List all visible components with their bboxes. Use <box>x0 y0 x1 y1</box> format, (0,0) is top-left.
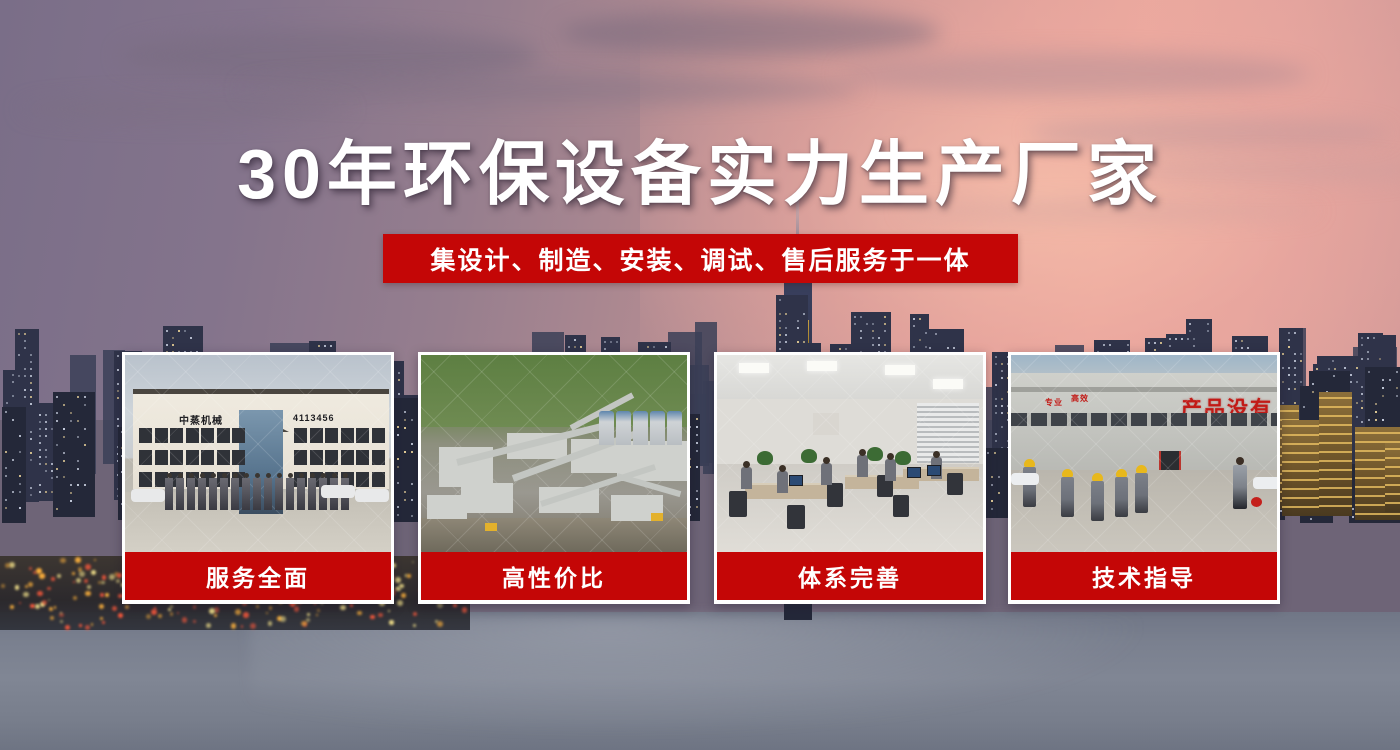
building-window <box>63 436 65 438</box>
photo-staff-member <box>209 478 217 510</box>
building-window <box>1396 371 1398 373</box>
building-window <box>45 491 47 493</box>
building-window <box>1396 395 1398 397</box>
photo-potted-plant <box>895 451 911 465</box>
building-window <box>665 346 667 348</box>
building-window <box>30 431 32 433</box>
riverfront-lamp <box>241 625 243 627</box>
building-window <box>12 381 14 383</box>
card-photo-workers-training-in-factory-yard: 产品没有 专业 高效 <box>1011 355 1277 552</box>
building-window <box>184 330 186 332</box>
photo-window <box>325 428 338 443</box>
building-window <box>24 396 26 398</box>
photo-ceiling-light <box>885 365 915 375</box>
photo-window <box>372 450 385 465</box>
building-window <box>39 442 41 444</box>
building-window <box>30 396 32 398</box>
photo-office-chair <box>947 473 963 495</box>
building-window <box>1193 345 1195 347</box>
building-window <box>24 368 26 370</box>
building-light-stripe <box>1282 488 1323 490</box>
riverfront-lamp <box>100 617 103 620</box>
cloud <box>240 74 860 104</box>
building-window <box>19 475 21 477</box>
building-window <box>1375 403 1377 405</box>
building-light-stripe <box>1385 493 1400 495</box>
photo-staff-member <box>308 478 316 510</box>
building-window <box>30 361 32 363</box>
building-window <box>1303 406 1305 408</box>
riverfront-lamp <box>73 581 75 583</box>
building-window <box>1316 368 1318 370</box>
riverfront-lamp <box>170 612 173 615</box>
building-window <box>19 435 21 437</box>
riverfront-lamp <box>39 573 45 579</box>
building-window <box>19 451 21 453</box>
riverfront-lamp <box>35 604 40 609</box>
photo-ceiling-light <box>739 363 769 373</box>
building-window <box>1368 371 1370 373</box>
building-window <box>5 451 7 453</box>
riverfront-lamp <box>182 617 187 622</box>
building-window <box>1382 395 1384 397</box>
photo-window <box>155 428 168 443</box>
card-caption-text: 高性价比 <box>502 559 606 593</box>
building-window <box>30 494 32 496</box>
card-caption: 服务全面 <box>125 552 391 600</box>
building-window <box>117 369 119 371</box>
photo-window <box>310 428 323 443</box>
building-light-stripe <box>1385 448 1400 450</box>
building-window <box>785 341 787 343</box>
building-window <box>878 344 880 346</box>
photo-staff-member <box>198 478 206 510</box>
building-window <box>1328 368 1330 370</box>
building-light-stripe <box>1385 457 1400 459</box>
riverfront-lamp <box>76 578 81 583</box>
riverfront-lamp <box>193 605 196 608</box>
riverfront-lamp <box>29 567 32 570</box>
building-window <box>63 452 65 454</box>
riverfront-lamp <box>102 575 107 580</box>
building-window <box>12 419 14 421</box>
building-window <box>117 418 119 420</box>
building-window <box>84 404 86 406</box>
riverfront-lamp <box>231 623 237 629</box>
building-light-stripe <box>1319 487 1351 489</box>
building-window <box>785 327 787 329</box>
photo-supervisor <box>1233 465 1247 509</box>
riverfront-lamp <box>85 591 90 596</box>
photo-site-road <box>421 518 687 552</box>
riverfront-lamp <box>357 611 362 616</box>
photo-staff-member <box>286 478 294 510</box>
photo-window <box>139 450 152 465</box>
building-window <box>77 484 79 486</box>
feature-card[interactable]: 产品没有 专业 高效 技术指导 <box>1008 352 1280 604</box>
photo-hard-hat <box>1024 459 1035 467</box>
building-light-stripe <box>1319 424 1351 426</box>
riverfront-lamp <box>177 612 180 615</box>
promo-banner: 30年环保设备实力生产厂家 集设计、制造、安装、调试、售后服务于一体 中蒸机械 … <box>0 0 1400 750</box>
building-window <box>24 389 26 391</box>
building-window <box>839 348 841 350</box>
building-window <box>779 341 781 343</box>
riverfront-lamp <box>109 574 115 580</box>
riverfront-lamp <box>266 612 268 614</box>
riverfront-lamp <box>350 604 353 607</box>
building-light-stripe <box>1319 442 1351 444</box>
building-window <box>779 320 781 322</box>
building-light-stripe <box>1319 397 1351 399</box>
building-window <box>604 348 606 350</box>
photo-potted-plant <box>801 449 817 463</box>
building-window <box>884 316 886 318</box>
photo-employee <box>857 455 868 477</box>
riverfront-lamp <box>116 579 120 583</box>
building-window <box>1154 342 1156 344</box>
photo-window-row <box>133 428 389 445</box>
building-window <box>1300 353 1302 355</box>
building-window <box>797 341 799 343</box>
photo-hard-hat <box>1092 473 1103 481</box>
building-light-stripe <box>1319 451 1351 453</box>
building-window <box>866 323 868 325</box>
building-window <box>30 452 32 454</box>
photo-roof-ridge <box>1011 387 1277 392</box>
building-window <box>77 436 79 438</box>
photo-window <box>356 428 369 443</box>
photo-silo <box>667 411 682 445</box>
photo-office-chair <box>827 483 843 507</box>
building-light-stripe <box>1319 460 1351 462</box>
feature-card[interactable]: 体系完善 <box>714 352 986 604</box>
building-light-stripe <box>1385 475 1400 477</box>
riverfront-lamp <box>54 606 57 609</box>
riverfront-lamp <box>268 621 273 626</box>
photo-car <box>321 485 355 498</box>
photo-red-helmet <box>1251 497 1262 507</box>
building-light-stripe <box>1282 461 1323 463</box>
riverfront-lamp <box>168 608 171 611</box>
photo-employee <box>821 463 832 485</box>
building-window <box>1382 419 1384 421</box>
building-window <box>1294 374 1296 376</box>
building-window <box>24 340 26 342</box>
photo-worker <box>1135 473 1148 513</box>
building-light-stripe <box>1282 443 1323 445</box>
building-window <box>166 344 168 346</box>
riverfront-lamp <box>269 606 272 609</box>
building-light-stripe <box>1282 497 1323 499</box>
photo-worker <box>1091 481 1104 521</box>
feature-card[interactable]: 高性价比 <box>418 352 690 604</box>
building-window <box>1235 340 1237 342</box>
photo-window <box>139 472 152 487</box>
photo-white-car <box>1011 473 1039 485</box>
building-window <box>45 414 47 416</box>
riverfront-lamp <box>60 620 64 624</box>
building-light-stripe <box>1319 478 1351 480</box>
riverfront-lamp <box>79 571 85 577</box>
building-window <box>1288 388 1290 390</box>
photo-staff-member <box>242 478 250 510</box>
building-window <box>785 313 787 315</box>
photo-office-chair <box>893 495 909 517</box>
building-window <box>24 347 26 349</box>
building-window <box>1154 349 1156 351</box>
photo-wall-slogan-small: 专业 <box>1045 397 1063 408</box>
photo-window <box>310 450 323 465</box>
photo-office-chair <box>729 491 747 517</box>
subtitle-text: 集设计、制造、安装、调试、售后服务于一体 <box>430 241 970 277</box>
building-window <box>45 449 47 451</box>
building-window <box>324 345 326 347</box>
building-window <box>63 476 65 478</box>
photo-hard-hat <box>1136 465 1147 473</box>
building-window <box>30 382 32 384</box>
building-window <box>56 444 58 446</box>
photo-staff-member <box>187 478 195 510</box>
building-window <box>45 463 47 465</box>
riverfront-lamp <box>99 604 104 609</box>
building-window <box>1187 338 1189 340</box>
building-window <box>872 330 874 332</box>
riverfront-lamp <box>91 570 96 575</box>
building-window <box>172 344 174 346</box>
building-window <box>39 484 41 486</box>
building-window <box>860 330 862 332</box>
riverfront-lamp <box>23 592 29 598</box>
building-window <box>318 345 320 347</box>
page-title: 30年环保设备实力生产厂家 <box>0 133 1400 215</box>
building-window <box>1361 400 1363 402</box>
building-window <box>63 460 65 462</box>
photo-monitor <box>789 475 803 486</box>
riverfront-lamp <box>146 614 151 619</box>
illuminated-building <box>1282 420 1323 516</box>
riverfront-lamp <box>256 605 259 608</box>
photo-window <box>217 450 230 465</box>
photo-ceiling-light <box>807 361 837 371</box>
building-window <box>803 313 805 315</box>
building-window <box>913 325 915 327</box>
building-window <box>1300 360 1302 362</box>
riverfront-lamp <box>28 582 33 587</box>
building-light-stripe <box>1385 502 1400 504</box>
building-window <box>18 333 20 335</box>
photo-staff-member <box>264 478 272 510</box>
riverfront-lamp <box>193 620 195 622</box>
building-window <box>45 435 47 437</box>
building-window <box>84 444 86 446</box>
riverfront-lamp <box>389 620 393 624</box>
riverfront-lamp <box>307 613 310 616</box>
photo-employee <box>741 467 752 489</box>
building-window <box>117 390 119 392</box>
photo-window <box>294 450 307 465</box>
building-window <box>39 463 41 465</box>
riverfront-lamp <box>370 615 375 620</box>
building-window <box>1382 387 1384 389</box>
building-window <box>70 420 72 422</box>
building-window <box>1361 337 1363 339</box>
building-window <box>574 346 576 348</box>
photo-office-chair <box>787 505 805 529</box>
building-light-stripe <box>1282 434 1323 436</box>
riverfront-lamp <box>51 577 55 581</box>
riverfront-lamp <box>84 579 88 583</box>
building-window <box>1247 347 1249 349</box>
building-window <box>1288 346 1290 348</box>
building-light-stripe <box>1319 406 1351 408</box>
building-window <box>84 396 86 398</box>
building-window <box>5 411 7 413</box>
riverfront-lamp <box>462 607 467 612</box>
building-window <box>30 368 32 370</box>
photo-window <box>170 428 183 443</box>
building-light-stripe <box>1355 513 1400 515</box>
building-window <box>178 330 180 332</box>
feature-card[interactable]: 中蒸机械 4113456 服务全面 <box>122 352 394 604</box>
skyline-building <box>2 407 26 522</box>
building-window <box>1294 353 1296 355</box>
building-window <box>779 327 781 329</box>
building-window <box>1294 360 1296 362</box>
building-window <box>1344 367 1346 369</box>
photo-plant-building <box>427 495 467 519</box>
building-window <box>30 389 32 391</box>
building-light-stripe <box>1319 433 1351 435</box>
cloud <box>840 52 1310 96</box>
riverfront-lamp <box>294 606 299 611</box>
photo-window <box>170 450 183 465</box>
building-window <box>1367 351 1369 353</box>
building-window <box>70 500 72 502</box>
photo-staff-member <box>275 478 283 510</box>
photo-hard-hat <box>1062 469 1073 477</box>
building-window <box>1288 367 1290 369</box>
riverfront-lamp <box>75 557 80 562</box>
subtitle-banner: 集设计、制造、安装、调试、售后服务于一体 <box>383 234 1018 283</box>
building-window <box>39 421 41 423</box>
riverfront-lamp <box>250 623 256 629</box>
building-window <box>45 421 47 423</box>
riverfront-lamp <box>60 558 66 564</box>
building-window <box>913 318 915 320</box>
building-window <box>1169 338 1171 340</box>
building-window <box>39 414 41 416</box>
building-window <box>12 395 14 397</box>
building-window <box>5 475 7 477</box>
building-window <box>1375 419 1377 421</box>
riverfront-lamp <box>1 584 5 588</box>
building-window <box>925 346 927 348</box>
riverfront-lamp <box>94 559 96 561</box>
building-window <box>779 348 781 350</box>
building-window <box>1334 368 1336 370</box>
riverfront-lamp <box>87 585 91 589</box>
building-window <box>1333 375 1335 377</box>
riverfront-lamp <box>280 616 286 622</box>
photo-ceiling-light <box>933 379 963 389</box>
riverfront-lamp <box>413 612 417 616</box>
building-window <box>574 339 576 341</box>
building-light-stripe <box>1355 432 1400 434</box>
building-window <box>12 374 14 376</box>
building-light-stripe <box>1282 479 1323 481</box>
building-window <box>30 459 32 461</box>
riverfront-lamp <box>65 625 70 630</box>
building-window <box>1294 332 1296 334</box>
building-window <box>1282 367 1284 369</box>
building-window <box>12 459 14 461</box>
building-window <box>1235 347 1237 349</box>
riverfront-lamp <box>243 612 248 617</box>
building-window <box>1207 330 1209 332</box>
building-window <box>1160 342 1162 344</box>
building-window <box>70 492 72 494</box>
building-window <box>1288 374 1290 376</box>
building-window <box>610 341 612 343</box>
building-window <box>953 347 955 349</box>
building-window <box>30 487 32 489</box>
riverfront-lamp <box>73 596 77 600</box>
photo-window <box>356 472 369 487</box>
building-window <box>1389 379 1391 381</box>
photo-window <box>341 450 354 465</box>
building-window <box>84 428 86 430</box>
photo-window-blinds <box>917 403 979 463</box>
building-window <box>1241 347 1243 349</box>
photo-wall-decal <box>813 413 839 435</box>
building-window <box>77 420 79 422</box>
building-window <box>854 323 856 325</box>
skyline-building <box>53 392 95 517</box>
riverfront-lamp <box>316 614 318 616</box>
building-window <box>1282 381 1284 383</box>
riverfront-lamp <box>37 591 43 597</box>
building-window <box>1288 339 1290 341</box>
building-window <box>1294 402 1296 404</box>
riverfront-lamp <box>105 593 109 597</box>
building-window <box>580 346 582 348</box>
building-window <box>56 468 58 470</box>
photo-excavator <box>485 523 497 531</box>
building-window <box>56 412 58 414</box>
building-window <box>63 404 65 406</box>
riverfront-lamp <box>151 609 157 615</box>
riverfront-lamp <box>437 621 443 627</box>
riverfront-lamp <box>25 585 28 588</box>
building-window <box>70 484 72 486</box>
photo-window <box>155 450 168 465</box>
riverfront-lamp <box>340 605 346 611</box>
building-window <box>84 484 86 486</box>
photo-staff-member <box>165 478 173 510</box>
riverfront-lamp <box>388 610 390 612</box>
building-window <box>63 428 65 430</box>
photo-window <box>372 472 385 487</box>
building-window <box>56 476 58 478</box>
riverfront-lamp <box>36 568 42 574</box>
card-photo-office-interior-with-employees <box>717 355 983 552</box>
cloud <box>560 10 940 56</box>
building-window <box>616 341 618 343</box>
photo-monitor <box>907 467 921 478</box>
photo-desk <box>745 483 831 499</box>
riverfront-lamp <box>125 605 129 609</box>
